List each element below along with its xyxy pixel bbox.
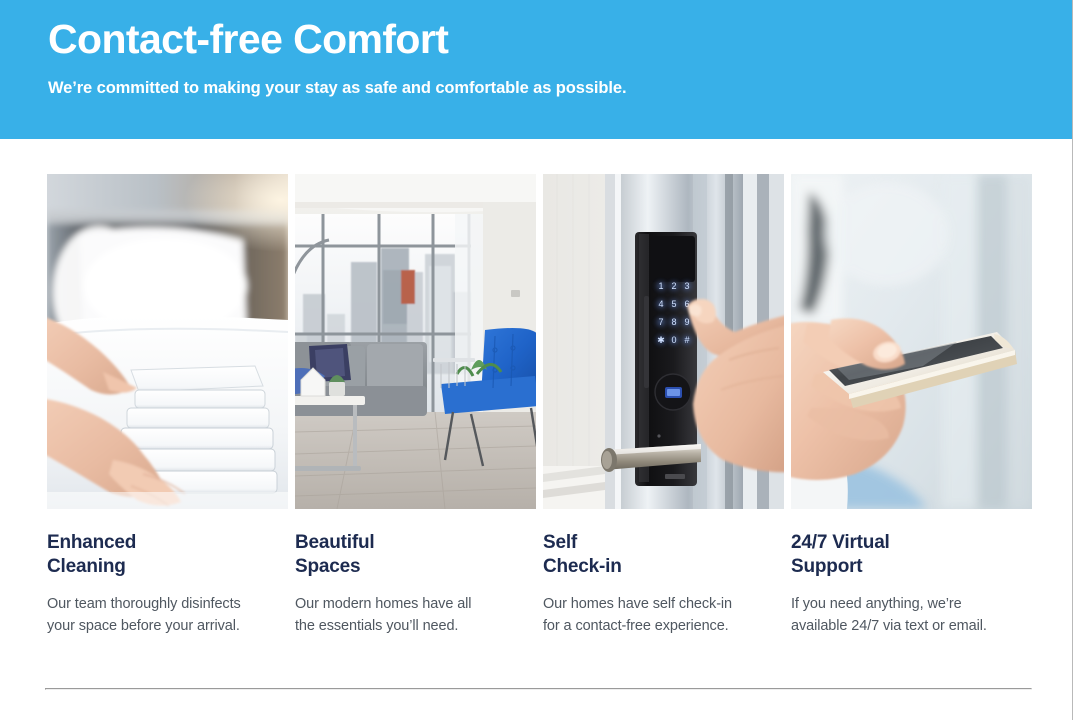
hero-subtitle: We’re committed to making your stay as s… <box>48 77 1024 99</box>
self-check-in-photo: 123 456 789 ✱0# <box>543 174 784 509</box>
card-description: Our homes have self check-in for a conta… <box>543 593 784 638</box>
svg-text:✱: ✱ <box>657 335 665 345</box>
feature-card: Enhanced Cleaning Our team thoroughly di… <box>47 174 288 638</box>
svg-text:2: 2 <box>671 281 676 291</box>
feature-card-grid: Enhanced Cleaning Our team thoroughly di… <box>47 174 1033 638</box>
svg-text:#: # <box>684 335 689 345</box>
card-description: If you need anything, we’re available 24… <box>791 593 1032 638</box>
card-title: Self Check-in <box>543 531 784 580</box>
svg-text:7: 7 <box>658 317 663 327</box>
svg-text:9: 9 <box>684 317 689 327</box>
window-right-edge <box>1072 0 1080 720</box>
svg-text:4: 4 <box>658 299 663 309</box>
page-title: Contact-free Comfort <box>48 14 1024 65</box>
feature-card: 24/7 Virtual Support If you need anythin… <box>791 174 1032 638</box>
towels-on-bed-illustration <box>47 174 288 509</box>
living-room-illustration <box>295 174 536 509</box>
enhanced-cleaning-photo <box>47 174 288 509</box>
hand-with-smartphone-illustration <box>791 174 1032 509</box>
card-title: Enhanced Cleaning <box>47 531 288 580</box>
smart-door-lock-illustration: 123 456 789 ✱0# <box>543 174 784 509</box>
svg-text:5: 5 <box>671 299 676 309</box>
hero-banner: Contact-free Comfort We’re committed to … <box>0 0 1072 139</box>
svg-text:8: 8 <box>671 317 676 327</box>
card-title: Beautiful Spaces <box>295 531 536 580</box>
card-description: Our team thoroughly disinfects your spac… <box>47 593 288 638</box>
virtual-support-photo <box>791 174 1032 509</box>
feature-card: 123 456 789 ✱0# <box>543 174 784 638</box>
beautiful-spaces-photo <box>295 174 536 509</box>
section-divider <box>45 688 1032 690</box>
svg-text:3: 3 <box>684 281 689 291</box>
svg-text:0: 0 <box>671 335 676 345</box>
card-description: Our modern homes have all the essentials… <box>295 593 536 638</box>
card-title: 24/7 Virtual Support <box>791 531 1032 580</box>
svg-text:1: 1 <box>658 281 663 291</box>
contact-free-comfort-page: Contact-free Comfort We’re committed to … <box>0 0 1080 720</box>
feature-card: Beautiful Spaces Our modern homes have a… <box>295 174 536 638</box>
